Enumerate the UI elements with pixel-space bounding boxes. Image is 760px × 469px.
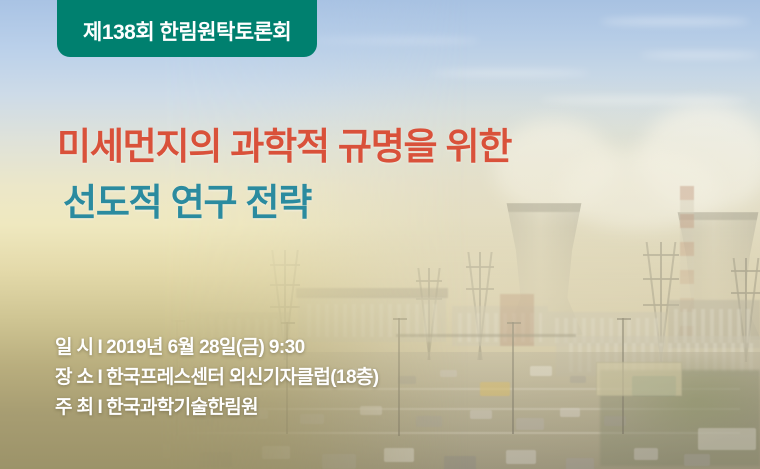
poster-title: 미세먼지의 과학적 규명을 위한 선도적 연구 전략: [57, 128, 511, 221]
event-detail-row-venue: 장 소I한국프레스센터 외신기자클럽(18층): [55, 363, 379, 393]
detail-value-date: 2019년 6월 28일(금) 9:30: [106, 337, 304, 358]
detail-value-host: 한국과학기술한림원: [106, 397, 258, 418]
poster-content: 제138회 한림원탁토론회 미세먼지의 과학적 규명을 위한 선도적 연구 전략…: [0, 0, 760, 469]
poster-title-line-1: 미세먼지의 과학적 규명을 위한: [57, 128, 511, 165]
event-series-badge-label: 제138회 한림원탁토론회: [83, 22, 291, 57]
poster-title-line-2: 선도적 연구 전략: [63, 184, 511, 221]
event-series-badge: 제138회 한림원탁토론회: [57, 0, 317, 57]
detail-value-venue: 한국프레스센터 외신기자클럽(18층): [106, 367, 378, 388]
detail-separator: I: [93, 367, 106, 388]
event-detail-row-host: 주 최I한국과학기술한림원: [55, 393, 379, 423]
detail-label-venue: 장 소: [55, 367, 93, 388]
poster-image: 제138회 한림원탁토론회 미세먼지의 과학적 규명을 위한 선도적 연구 전략…: [0, 0, 760, 469]
detail-label-host: 주 최: [55, 397, 93, 418]
detail-separator: I: [93, 337, 106, 358]
detail-label-date: 일 시: [55, 337, 93, 358]
detail-separator: I: [93, 397, 106, 418]
event-detail-row-date: 일 시I2019년 6월 28일(금) 9:30: [55, 333, 379, 363]
event-details: 일 시I2019년 6월 28일(금) 9:30 장 소I한국프레스센터 외신기…: [55, 333, 379, 423]
